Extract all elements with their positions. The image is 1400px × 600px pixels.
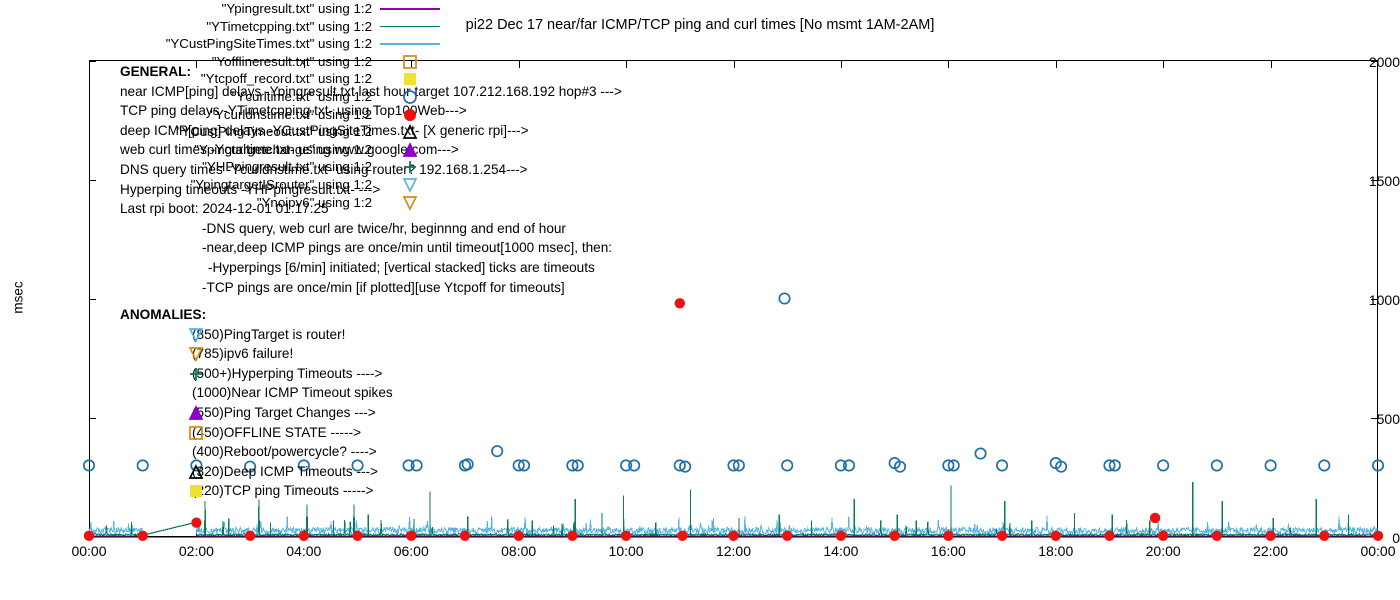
legend-item[interactable]: "YCustPingTimeout.txt" using 1:2	[0, 123, 450, 141]
data-point-circle-fill	[1212, 531, 1222, 541]
general-note: -DNS query, web curl are twice/hr, begin…	[120, 219, 622, 239]
legend-key-square-open-icon	[378, 53, 442, 71]
anomaly-row: (785)ipv6 failure!	[120, 344, 393, 364]
triangle-up-fill-purple-icon	[188, 405, 204, 421]
x-tick-label: 08:00	[484, 543, 554, 559]
legend-key-triangle-dn-open-icon	[378, 176, 442, 194]
legend-label: "Ypingresult.txt" using 1:2	[222, 0, 372, 18]
data-point-circle-open	[1319, 460, 1329, 470]
general-note: -Hyperpings [6/min] initiated; [vertical…	[120, 258, 622, 278]
anomaly-label: (320)Deep ICMP Timeouts --->	[192, 464, 378, 479]
legend-key-line-icon	[378, 0, 442, 18]
anomaly-label: (550)Ping Target Changes --->	[192, 405, 376, 420]
anomaly-row: (320)Deep ICMP Timeouts --->	[120, 462, 393, 482]
data-point-circle-fill	[1265, 531, 1275, 541]
data-point-circle-open	[1373, 460, 1383, 470]
legend-label: "YpingtargetISrouter" using 1:2	[191, 176, 372, 194]
legend-item[interactable]: "Ypingtargetchange" using 1:2	[0, 141, 450, 159]
legend-label: "YCustPingSiteTimes.txt" using 1:2	[166, 35, 372, 53]
anomaly-row: (500+)Hyperping Timeouts ---->	[120, 364, 393, 384]
data-point-circle-fill	[943, 531, 953, 541]
anomalies-header: ANOMALIES:	[120, 305, 393, 325]
data-point-circle-fill	[1158, 531, 1168, 541]
legend-item[interactable]: "Yofflineresult.txt" using 1:2	[0, 53, 450, 71]
plus-green-icon	[188, 366, 204, 382]
x-tick-label: 18:00	[1021, 543, 1091, 559]
legend-marker-swatch	[378, 106, 442, 124]
data-point-circle-fill	[1373, 531, 1383, 541]
legend-label: "Ypingtargetchange" using 1:2	[194, 141, 372, 159]
x-tick-label: 02:00	[161, 543, 231, 559]
data-point-circle-fill	[138, 531, 148, 541]
data-point-circle-fill	[191, 517, 201, 527]
x-tick-label: 10:00	[591, 543, 661, 559]
legend-key-triangle-up-fill-icon	[378, 141, 442, 159]
data-point-circle-fill	[460, 531, 470, 541]
legend-label: "YCustPingTimeout.txt" using 1:2	[177, 123, 372, 141]
legend-label: "YTimetcpping.txt" using 1:2	[206, 18, 372, 36]
data-point-circle-fill	[1150, 513, 1160, 523]
data-point-circle-fill	[513, 531, 523, 541]
legend-key-line-icon	[378, 18, 442, 36]
legend-line-swatch	[380, 8, 440, 10]
legend-item[interactable]: "YpingtargetISrouter" using 1:2	[0, 176, 450, 194]
x-tick-label: 06:00	[376, 543, 446, 559]
data-point-circle-open	[1265, 460, 1275, 470]
x-tick-label: 12:00	[699, 543, 769, 559]
x-tick-label: 00:00	[54, 543, 124, 559]
legend-label: "Ycurltime.txt" using 1:2	[232, 88, 372, 106]
data-point-circle-fill	[299, 531, 309, 541]
legend-item[interactable]: "Ynoipv6" using 1:2	[0, 194, 450, 212]
data-point-circle-open	[997, 460, 1007, 470]
anomaly-label: (1000)Near ICMP Timeout spikes	[192, 385, 393, 400]
anomaly-row: (450)OFFLINE STATE ----->	[120, 423, 393, 443]
triangle-down-open-orange-icon	[188, 346, 204, 362]
legend-line-swatch	[380, 43, 440, 45]
data-point-circle-open	[492, 446, 502, 456]
anomaly-row: (400)Reboot/powercycle? ---->	[120, 442, 393, 462]
data-point-circle-fill	[352, 531, 362, 541]
legend-key-circle-open-icon	[378, 88, 442, 106]
data-point-circle-fill	[836, 531, 846, 541]
anomalies-annotation-block: ANOMALIES: (850)PingTarget is router!(78…	[120, 305, 393, 501]
legend-item[interactable]: "YHPpingresult.txt" using 1:2	[0, 158, 450, 176]
data-point-circle-fill	[1104, 531, 1114, 541]
data-point-circle-fill	[889, 531, 899, 541]
legend-item[interactable]: "Ypingresult.txt" using 1:2	[0, 0, 450, 18]
y-axis-label: msec	[11, 268, 26, 328]
legend-line-swatch	[380, 26, 440, 28]
legend-item[interactable]: "Ycurltime.txt" using 1:2	[0, 88, 450, 106]
anomaly-row: (1000)Near ICMP Timeout spikes	[120, 383, 393, 403]
anomaly-row: (550)Ping Target Changes --->	[120, 403, 393, 423]
square-fill-yellow-icon	[188, 483, 204, 499]
x-tick-label: 04:00	[269, 543, 339, 559]
triangle-down-open-blue-icon	[188, 327, 204, 343]
legend-key-square-fill-icon	[378, 70, 442, 88]
general-note: -near,deep ICMP pings are once/min until…	[120, 238, 622, 258]
legend-key-plus-icon	[378, 158, 442, 176]
x-tick-label: 14:00	[806, 543, 876, 559]
data-point-circle-fill	[997, 531, 1007, 541]
legend-key-line-icon	[378, 35, 442, 53]
data-point-circle-fill	[1051, 531, 1061, 541]
data-point-circle-fill	[567, 531, 577, 541]
legend-label: "Yofflineresult.txt" using 1:2	[212, 53, 372, 71]
data-point-circle-open	[975, 448, 985, 458]
data-point-circle-open	[779, 293, 789, 303]
legend-label: "Ycurldnstime.txt" using 1:2	[210, 106, 372, 124]
x-tick-label: 22:00	[1236, 543, 1306, 559]
anomaly-label: (450)OFFLINE STATE ----->	[192, 425, 361, 440]
legend-marker-swatch	[378, 88, 442, 106]
legend-label: "Ytcpoff_record.txt" using 1:2	[201, 70, 372, 88]
legend-marker-swatch	[378, 194, 442, 212]
triangle-up-open-black-icon	[188, 464, 204, 480]
legend-marker-swatch	[378, 176, 442, 194]
data-point-circle-fill	[782, 531, 792, 541]
general-note: -TCP pings are once/min [if plotted][use…	[120, 278, 622, 298]
square-open-orange-icon	[188, 425, 204, 441]
data-point-circle-open	[84, 460, 94, 470]
legend-item[interactable]: "Ytcpoff_record.txt" using 1:2	[0, 70, 450, 88]
legend-marker-swatch	[378, 158, 442, 176]
data-point-circle-fill	[406, 531, 416, 541]
legend-item[interactable]: "YTimetcpping.txt" using 1:2	[0, 18, 450, 36]
x-tick-label: 00:00	[1343, 543, 1400, 559]
legend-key-triangle-dn-open-icon	[378, 194, 442, 212]
anomaly-label: (785)ipv6 failure!	[192, 346, 293, 361]
x-tick-label: 16:00	[913, 543, 983, 559]
legend-marker-swatch	[378, 123, 442, 141]
legend-marker-swatch	[378, 53, 442, 71]
legend-label: "Ynoipv6" using 1:2	[257, 194, 372, 212]
legend-item[interactable]: "Ycurldnstime.txt" using 1:2	[0, 106, 450, 124]
legend-marker-swatch	[378, 70, 442, 88]
data-point-circle-open	[782, 460, 792, 470]
data-point-circle-fill	[245, 531, 255, 541]
legend: "Ypingresult.txt" using 1:2"YTimetcpping…	[0, 0, 450, 211]
legend-label: "YHPpingresult.txt" using 1:2	[202, 158, 372, 176]
data-point-circle-fill	[728, 531, 738, 541]
anomaly-row: (220)TCP ping Timeouts ----->	[120, 481, 393, 501]
data-point-circle-fill	[675, 298, 685, 308]
anomaly-label: (220)TCP ping Timeouts ----->	[192, 483, 373, 498]
anomaly-row: (850)PingTarget is router!	[120, 325, 393, 345]
legend-marker-swatch	[378, 141, 442, 159]
legend-key-triangle-up-open-icon	[378, 123, 442, 141]
anomaly-label: (500+)Hyperping Timeouts ---->	[192, 366, 382, 381]
anomaly-label: (850)PingTarget is router!	[192, 327, 345, 342]
data-point-circle-fill	[1319, 531, 1329, 541]
anomaly-label: (400)Reboot/powercycle? ---->	[192, 444, 377, 459]
legend-key-circle-fill-icon	[378, 106, 442, 124]
x-tick-label: 20:00	[1128, 543, 1198, 559]
data-point-circle-open	[1158, 460, 1168, 470]
data-point-circle-open	[1212, 460, 1222, 470]
data-point-circle-fill	[677, 531, 687, 541]
legend-item[interactable]: "YCustPingSiteTimes.txt" using 1:2	[0, 35, 450, 53]
data-point-circle-fill	[621, 531, 631, 541]
data-point-circle-fill	[84, 531, 94, 541]
